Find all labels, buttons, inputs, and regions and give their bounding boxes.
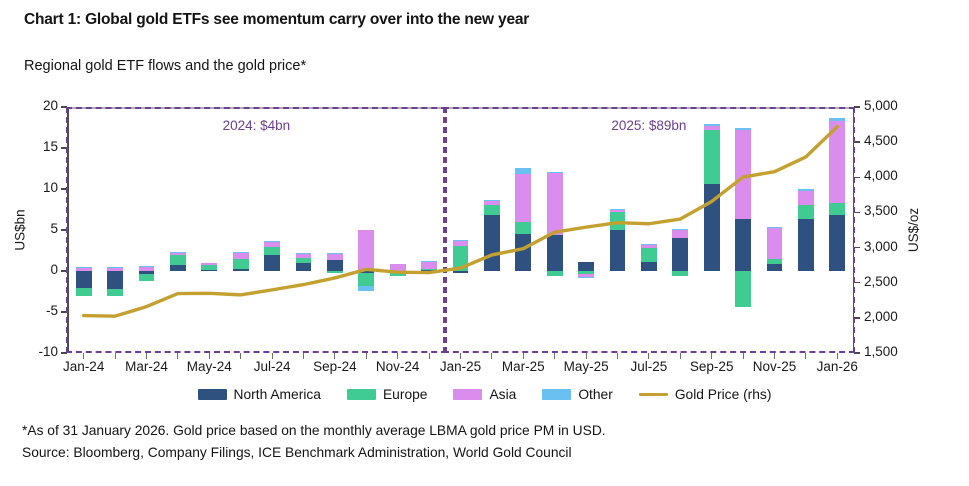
x-axis-tick-label: Jan-25 — [440, 359, 481, 374]
y-axis-right-tick — [854, 247, 860, 249]
footnotes: *As of 31 January 2026. Gold price based… — [22, 420, 606, 465]
y-axis-right-tick-label: 3,500 — [864, 203, 898, 218]
x-axis-tick-label: Mar-25 — [502, 359, 545, 374]
legend-item-other[interactable]: Other — [542, 387, 613, 402]
x-axis-tick — [491, 353, 492, 359]
legend-label: Europe — [383, 387, 428, 402]
y-axis-left-tick-label: -5 — [16, 303, 58, 318]
legend-swatch-icon — [639, 393, 668, 397]
y-axis-right-tick — [854, 317, 860, 319]
x-axis-tick-label: May-25 — [564, 359, 609, 374]
y-axis-left-tick-label: 10 — [16, 180, 58, 195]
legend-item-europe[interactable]: Europe — [347, 387, 428, 402]
x-axis-tick — [366, 353, 367, 359]
y-axis-left-tick-label: 20 — [16, 98, 58, 113]
x-axis-tick-label: Mar-24 — [125, 359, 168, 374]
x-axis-tick-label: Sep-25 — [690, 359, 734, 374]
y-axis-right-tick-label: 5,000 — [864, 98, 898, 113]
x-axis-tick — [240, 353, 241, 359]
y-axis-left-tick-label: 0 — [16, 262, 58, 277]
page-title: Chart 1: Global gold ETFs see momentum c… — [24, 11, 529, 29]
legend-label: North America — [234, 387, 321, 402]
y-axis-right-tick — [854, 106, 860, 108]
x-axis-tick — [805, 353, 806, 359]
legend-item-gold-price-rhs[interactable]: Gold Price (rhs) — [639, 387, 772, 402]
legend-swatch-icon — [347, 389, 376, 400]
x-axis-tick-label: May-24 — [187, 359, 232, 374]
legend-item-asia[interactable]: Asia — [453, 387, 516, 402]
chart-legend: North AmericaEuropeAsiaOtherGold Price (… — [0, 387, 969, 402]
y-axis-right-tick — [854, 212, 860, 214]
x-axis-tick — [429, 353, 430, 359]
y-axis-right-tick — [854, 282, 860, 284]
x-axis-tick — [115, 353, 116, 359]
footnote-source: Source: Bloomberg, Company Filings, ICE … — [22, 442, 606, 464]
footnote-asof: *As of 31 January 2026. Gold price based… — [22, 420, 606, 442]
y-axis-left-tick — [61, 229, 67, 231]
x-axis-tick-label: Jan-24 — [63, 359, 104, 374]
legend-swatch-icon — [453, 389, 482, 400]
y-axis-right-tick-label: 3,000 — [864, 239, 898, 254]
y-axis-left-tick — [61, 147, 67, 149]
x-axis-tick-label: Nov-25 — [753, 359, 797, 374]
legend-swatch-icon — [198, 389, 227, 400]
y-axis-right-title: US$/oz — [906, 208, 921, 252]
y-axis-right-tick — [854, 352, 860, 354]
chart-subtitle: Regional gold ETF flows and the gold pri… — [24, 58, 306, 74]
y-axis-left-tick-label: -10 — [16, 344, 58, 359]
y-axis-left-tick — [61, 106, 67, 108]
y-axis-right-tick-label: 2,000 — [864, 309, 898, 324]
x-axis-tick-label: Jul-24 — [254, 359, 291, 374]
x-axis-tick-label: Sep-24 — [313, 359, 357, 374]
x-axis-tick — [680, 353, 681, 359]
y-axis-right-tick — [854, 177, 860, 179]
y-axis-right-tick-label: 2,500 — [864, 274, 898, 289]
y-axis-right-tick-label: 4,500 — [864, 133, 898, 148]
legend-swatch-icon — [542, 389, 571, 400]
y-axis-left-tick — [61, 352, 67, 354]
gold-price-polyline — [84, 127, 838, 316]
y-axis-left-tick — [61, 188, 67, 190]
legend-label: Other — [578, 387, 613, 402]
legend-label: Asia — [489, 387, 516, 402]
y-axis-left-tick — [61, 270, 67, 272]
legend-item-north-america[interactable]: North America — [198, 387, 321, 402]
x-axis-tick-label: Nov-24 — [376, 359, 420, 374]
x-axis-tick — [554, 353, 555, 359]
y-axis-left-title: US$bn — [13, 209, 28, 250]
x-axis-tick — [617, 353, 618, 359]
chart-plot-area: -10-505101520 1,5002,0002,5003,0003,5004… — [68, 107, 853, 353]
y-axis-right-tick — [854, 141, 860, 143]
x-axis-tick — [303, 353, 304, 359]
x-axis-tick — [743, 353, 744, 359]
gold-price-line — [68, 107, 853, 353]
x-axis-tick-label: Jul-25 — [631, 359, 668, 374]
y-axis-left-tick — [61, 311, 67, 313]
x-axis-tick-label: Jan-26 — [817, 359, 858, 374]
legend-label: Gold Price (rhs) — [675, 387, 772, 402]
y-axis-right-tick-label: 1,500 — [864, 344, 898, 359]
x-axis-tick — [177, 353, 178, 359]
y-axis-right-tick-label: 4,000 — [864, 168, 898, 183]
y-axis-left-tick-label: 15 — [16, 139, 58, 154]
